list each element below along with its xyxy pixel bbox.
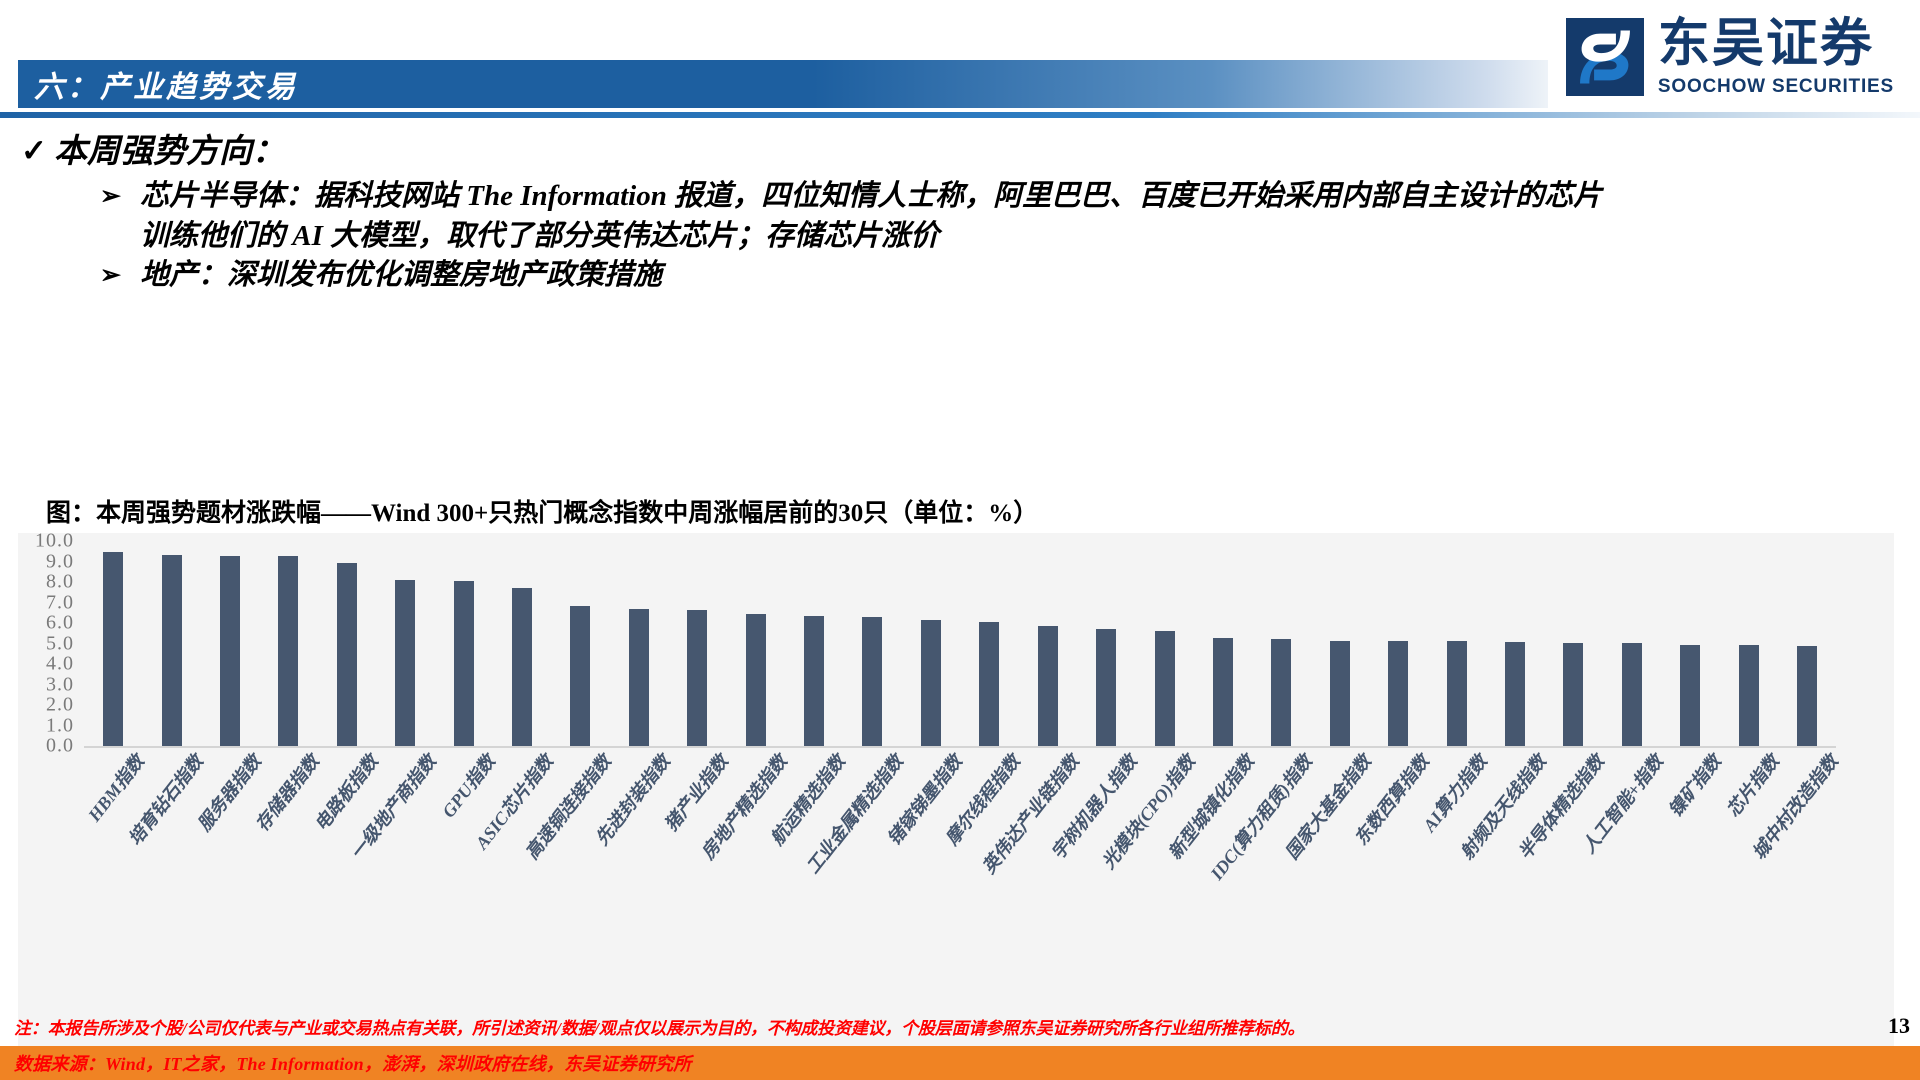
sub-bullet-list: ➢ 芯片半导体：据科技网站 The Information 报道，四位知情人士称… (14, 177, 1894, 295)
bar-slot[interactable] (434, 541, 492, 746)
bar-slot[interactable] (1486, 541, 1544, 746)
chart-bar[interactable] (1447, 641, 1467, 747)
y-axis: 10.09.08.07.06.05.04.03.02.01.00.0 (18, 541, 80, 746)
section-title: 六：产业趋势交易 (18, 62, 298, 106)
bar-slot[interactable] (142, 541, 200, 746)
y-axis-tick: 0.0 (46, 735, 74, 758)
bar-slot[interactable] (1077, 541, 1135, 746)
soochow-s-logo-icon (1566, 18, 1644, 96)
chart-bar[interactable] (1739, 645, 1759, 746)
bars-layer (84, 541, 1836, 746)
chart-bar[interactable] (220, 556, 240, 747)
chart-bar[interactable] (103, 552, 123, 747)
chart-bar[interactable] (1388, 641, 1408, 747)
page-number: 13 (1888, 1013, 1920, 1039)
brand-name-cn: 东吴证券 (1658, 19, 1894, 71)
chart-bar[interactable] (1271, 639, 1291, 747)
bar-slot[interactable] (318, 541, 376, 746)
title-underline-rule (0, 112, 1920, 118)
source-bar: 数据来源：Wind，IT之家，The Information，澎湃，深圳政府在线… (0, 1046, 1920, 1080)
bar-slot[interactable] (902, 541, 960, 746)
x-axis-labels: HBM指数培育钻石指数服务器指数存储器指数电路板指数一级地产商指数GPU指数AS… (84, 749, 1836, 1049)
bar-slot[interactable] (1019, 541, 1077, 746)
chart-bar[interactable] (1680, 645, 1700, 746)
slide-header: 东吴证券 SOOCHOW SECURITIES 六：产业趋势交易 (0, 0, 1920, 132)
footnote-row: 注：本报告所涉及个股/公司仅代表与产业或交易热点有关联，所引述资讯/数据/观点仅… (0, 1013, 1920, 1039)
sub-bullet-realestate-line-1: 地产：深圳发布优化调整房地产政策措施 (140, 256, 1894, 295)
bullet-indent-spacer (100, 217, 140, 220)
chart-bar[interactable] (1038, 626, 1058, 746)
chart-bar[interactable] (512, 588, 532, 746)
sub-bullet-chip-cont: 训练他们的 AI 大模型，取代了部分英伟达芯片；存储芯片涨价 (100, 217, 1894, 256)
bar-slot[interactable] (493, 541, 551, 746)
arrow-right-icon: ➢ (100, 256, 140, 292)
bar-slot[interactable] (201, 541, 259, 746)
chart-bar[interactable] (921, 620, 941, 746)
bar-chart: 10.09.08.07.06.05.04.03.02.01.00.0 HBM指数… (18, 533, 1894, 1078)
chart-bar[interactable] (1213, 638, 1233, 747)
chart-bar[interactable] (162, 555, 182, 747)
disclaimer-note: 注：本报告所涉及个股/公司仅代表与产业或交易热点有关联，所引述资讯/数据/观点仅… (0, 1019, 1888, 1039)
sub-bullet-chip: ➢ 芯片半导体：据科技网站 The Information 报道，四位知情人士称… (100, 177, 1894, 216)
bar-slot[interactable] (1311, 541, 1369, 746)
bar-slot[interactable] (668, 541, 726, 746)
bar-slot[interactable] (1778, 541, 1836, 746)
bar-slot[interactable] (1194, 541, 1252, 746)
bar-slot[interactable] (376, 541, 434, 746)
content-bullets: ✓ 本周强势方向： ➢ 芯片半导体：据科技网站 The Information … (14, 132, 1894, 296)
x-axis-tick-label: 镍矿指数 (1662, 749, 1727, 822)
chart-bar[interactable] (1155, 631, 1175, 746)
chart-bar[interactable] (687, 610, 707, 746)
chart-bar[interactable] (746, 614, 766, 746)
sub-bullet-chip-line-1: 芯片半导体：据科技网站 The Information 报道，四位知情人士称，阿… (140, 177, 1894, 216)
bullet-heading-label: 本周强势方向： (54, 132, 285, 173)
chart-bar[interactable] (1797, 646, 1817, 746)
chart-bar[interactable] (1096, 629, 1116, 746)
chart-bar[interactable] (454, 581, 474, 746)
bar-slot[interactable] (551, 541, 609, 746)
chart-bar[interactable] (337, 563, 357, 746)
chart-bar[interactable] (278, 556, 298, 747)
bar-slot[interactable] (1427, 541, 1485, 746)
bar-slot[interactable] (785, 541, 843, 746)
brand-logo: 东吴证券 SOOCHOW SECURITIES (1566, 18, 1894, 96)
bar-slot[interactable] (1544, 541, 1602, 746)
bar-slot[interactable] (1719, 541, 1777, 746)
sub-bullet-chip-line-2: 训练他们的 AI 大模型，取代了部分英伟达芯片；存储芯片涨价 (140, 217, 1894, 256)
bar-slot[interactable] (726, 541, 784, 746)
chart-bar[interactable] (862, 617, 882, 746)
bar-slot[interactable] (1135, 541, 1193, 746)
bar-slot[interactable] (1661, 541, 1719, 746)
chart-bar[interactable] (1622, 643, 1642, 747)
bar-slot[interactable] (1252, 541, 1310, 746)
bullet-heading: ✓ 本周强势方向： (14, 132, 1894, 173)
chart-bar[interactable] (570, 606, 590, 746)
section-title-bar: 六：产业趋势交易 (18, 60, 1548, 108)
chart-bar[interactable] (804, 616, 824, 746)
x-axis-line (84, 746, 1836, 748)
chart-bar[interactable] (629, 609, 649, 746)
check-icon: ✓ (14, 132, 54, 171)
brand-wordmark: 东吴证券 SOOCHOW SECURITIES (1658, 19, 1894, 96)
chart-bar[interactable] (1330, 641, 1350, 747)
bar-slot[interactable] (1603, 541, 1661, 746)
chart-bar[interactable] (1563, 643, 1583, 747)
chart-section: 图：本周强势题材涨跌幅——Wind 300+只热门概念指数中周涨幅居前的30只（… (0, 498, 1920, 1078)
source-note: 数据来源：Wind，IT之家，The Information，澎湃，深圳政府在线… (0, 1050, 691, 1076)
chart-caption: 图：本周强势题材涨跌幅——Wind 300+只热门概念指数中周涨幅居前的30只（… (0, 498, 1920, 529)
bar-slot[interactable] (610, 541, 668, 746)
x-axis-tick-label: IDC(算力租赁)指数 (1204, 749, 1318, 885)
bar-slot[interactable] (1369, 541, 1427, 746)
bar-slot[interactable] (84, 541, 142, 746)
bar-slot[interactable] (960, 541, 1018, 746)
chart-bar[interactable] (395, 580, 415, 746)
brand-name-en: SOOCHOW SECURITIES (1658, 77, 1894, 96)
chart-bar[interactable] (1505, 642, 1525, 747)
chart-bar[interactable] (979, 622, 999, 746)
bar-slot[interactable] (843, 541, 901, 746)
bar-slot[interactable] (259, 541, 317, 746)
sub-bullet-realestate: ➢ 地产：深圳发布优化调整房地产政策措施 (100, 256, 1894, 295)
arrow-right-icon: ➢ (100, 177, 140, 213)
